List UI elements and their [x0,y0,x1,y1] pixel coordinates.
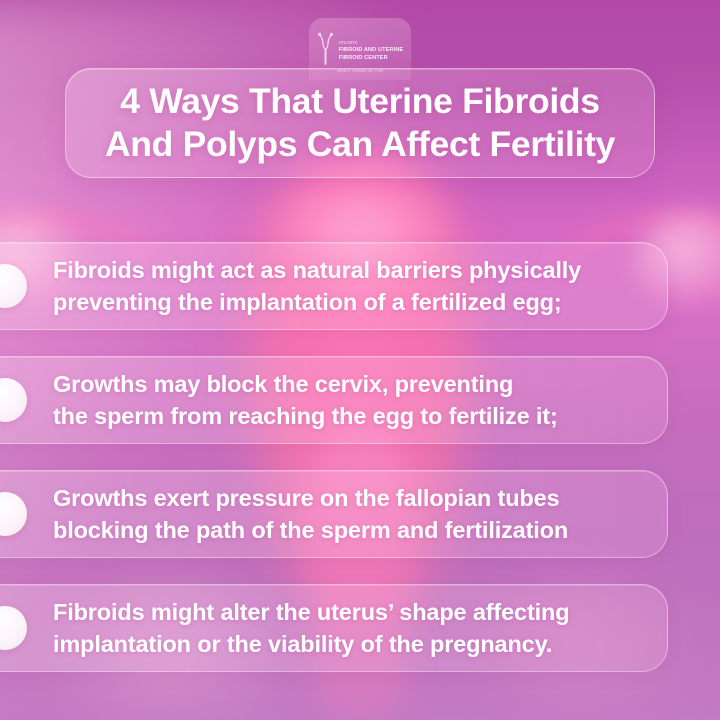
fact-card-2-copy: Growths may block the cervix, preventing… [53,369,594,431]
fact-card-1-line-2: preventing the implantation of a fertili… [53,287,581,317]
fact-card-4: Fibroids might alter the uterus’ shape a… [0,584,668,672]
page-title-line-1: 4 Ways That Uterine Fibroids [86,80,634,123]
white-circle-bullet-icon [0,492,27,536]
fact-card-3: Growths exert pressure on the fallopian … [0,470,668,558]
fact-card-2-line-1: Growths may block the cervix, preventing [53,369,558,399]
fact-card-4-line-1: Fibroids might alter the uterus’ shape a… [53,597,569,627]
brand-logo-line-2: FIBROID AND UTERINE [339,47,403,53]
fact-card-2-line-2: the sperm from reaching the egg to ferti… [53,401,558,431]
uterus-mark-icon [317,32,334,68]
white-circle-bullet-icon [0,378,27,422]
page-title-card: 4 Ways That Uterine Fibroids And Polyps … [65,68,655,178]
white-circle-bullet-icon [0,606,27,650]
fact-card-4-line-2: implantation or the viability of the pre… [53,629,569,659]
fact-card-3-copy: Growths exert pressure on the fallopian … [53,483,604,545]
page-title-line-2: And Polyps Can Affect Fertility [86,123,634,166]
brand-logo-line-1: ATLANTA [339,40,403,45]
fact-card-4-copy: Fibroids might alter the uterus’ shape a… [53,597,605,659]
fact-card-3-line-2: blocking the path of the sperm and ferti… [53,515,568,545]
fact-card-2: Growths may block the cervix, preventing… [0,356,668,444]
fact-card-1-copy: Fibroids might act as natural barriers p… [53,255,617,317]
fact-card-1: Fibroids might act as natural barriers p… [0,242,668,330]
brand-logo-line-3: FIBROID CENTER [339,55,403,61]
white-circle-bullet-icon [0,264,27,308]
brand-logo-text: ATLANTA FIBROID AND UTERINE FIBROID CENT… [339,40,403,61]
fact-card-1-line-1: Fibroids might act as natural barriers p… [53,255,581,285]
fact-card-3-line-1: Growths exert pressure on the fallopian … [53,483,568,513]
